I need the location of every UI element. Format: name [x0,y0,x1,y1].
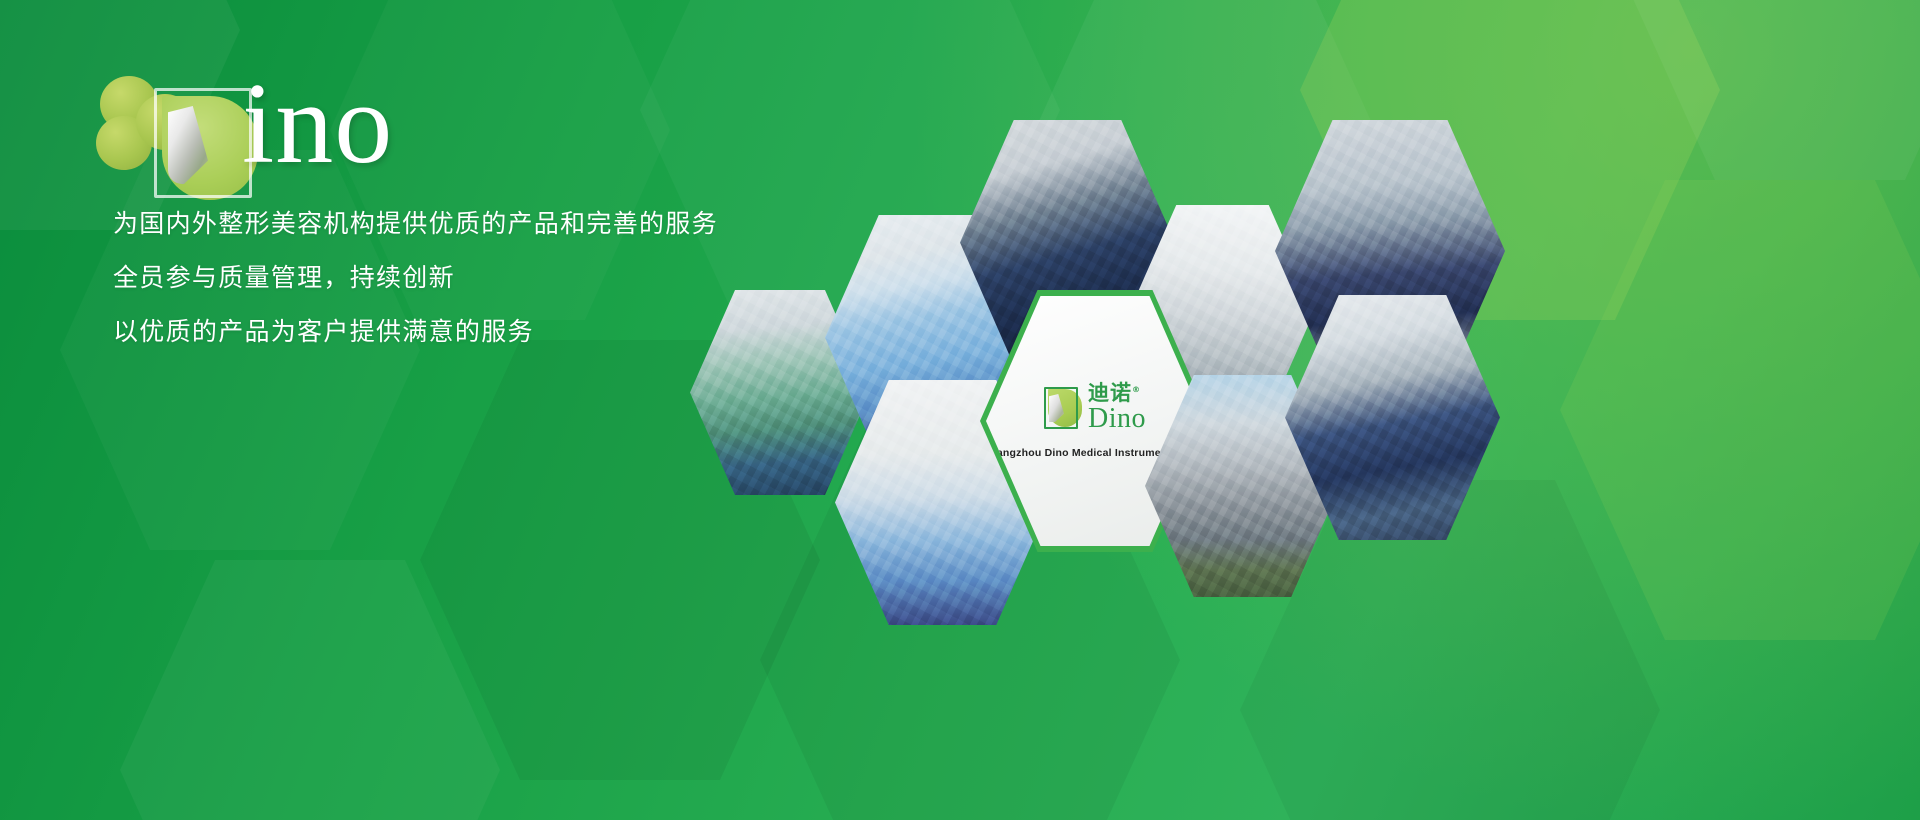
brand-logo[interactable]: ino [92,72,512,182]
tagline-list: 为国内外整形美容机构提供优质的产品和完善的服务 全员参与质量管理，持续创新 以优… [113,212,718,374]
letter-d-logo-icon [1044,387,1082,429]
registered-mark-icon: ® [1132,385,1141,394]
hexagon-photo-collage: 迪诺® Dino Hangzhou Dino Medical Instrumen… [660,100,1920,660]
tagline-2: 全员参与质量管理，持续创新 [113,266,718,291]
badge-logo-mark: 迪诺® Dino [1044,383,1146,433]
tagline-1: 为国内外整形美容机构提供优质的产品和完善的服务 [113,212,718,237]
company-hero-banner: ino 为国内外整形美容机构提供优质的产品和完善的服务 全员参与质量管理，持续创… [0,0,1920,820]
badge-cn-name: 迪诺® [1088,383,1146,404]
tagline-3: 以优质的产品为客户提供满意的服务 [113,320,718,345]
badge-en-name: Dino [1088,405,1146,433]
brand-wordmark: ino [242,66,393,182]
